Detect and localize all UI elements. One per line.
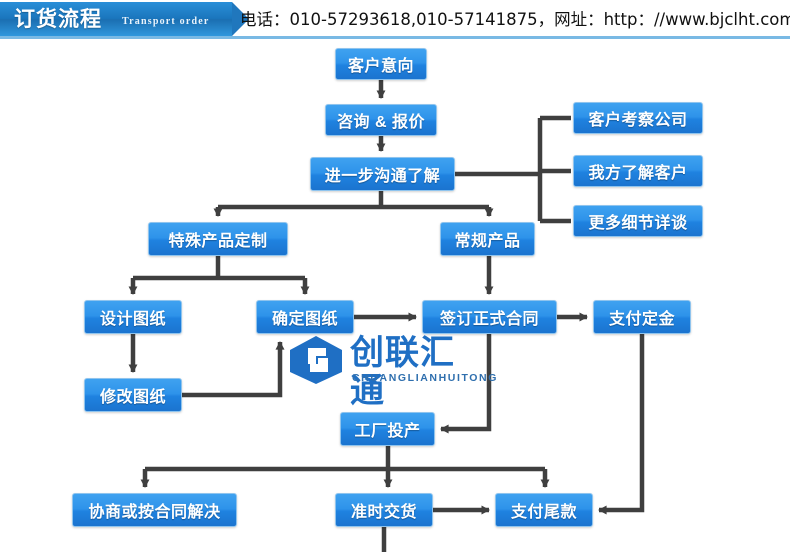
node-sign-contract[interactable]: 签订正式合同	[422, 300, 557, 334]
node-standard-product[interactable]: 常规产品	[440, 222, 535, 256]
node-more-details-discussion[interactable]: 更多细节详谈	[573, 205, 703, 237]
node-consult-quote[interactable]: 咨询 & 报价	[325, 104, 437, 136]
edge-n13-n10	[182, 342, 280, 395]
node-negotiate-or-contract[interactable]: 协商或按合同解决	[72, 493, 237, 527]
node-pay-balance[interactable]: 支付尾款	[495, 493, 593, 527]
edge-n12-n17	[599, 334, 642, 510]
node-customer-visits-company[interactable]: 客户考察公司	[573, 102, 703, 134]
company-logo-icon	[288, 334, 346, 386]
contact-info: 电话：010-57293618,010-57141875，网址：http：//w…	[240, 6, 790, 30]
node-on-time-delivery[interactable]: 准时交货	[335, 493, 433, 527]
node-we-understand-customer[interactable]: 我方了解客户	[573, 155, 703, 187]
header-divider	[0, 36, 790, 39]
page-subtitle: Transport order	[122, 16, 210, 27]
node-factory-production[interactable]: 工厂投产	[340, 412, 435, 446]
node-custom-product[interactable]: 特殊产品定制	[148, 222, 288, 256]
watermark-logo: 创联汇通 CHUANGLIANHUITONG	[288, 334, 488, 392]
watermark-pinyin: CHUANGLIANHUITONG	[352, 372, 498, 384]
node-pay-deposit[interactable]: 支付定金	[593, 300, 691, 334]
node-revise-drawing[interactable]: 修改图纸	[84, 378, 182, 412]
node-further-communication[interactable]: 进一步沟通了解	[310, 157, 455, 191]
node-customer-intent[interactable]: 客户意向	[335, 48, 427, 80]
page-title: 订货流程	[14, 6, 102, 34]
node-confirm-drawing[interactable]: 确定图纸	[256, 300, 354, 334]
header-banner: 订货流程 Transport order	[0, 2, 232, 36]
node-design-drawing[interactable]: 设计图纸	[84, 300, 182, 334]
page-header: 订货流程 Transport order 电话：010-57293618,010…	[0, 0, 790, 42]
flowchart-canvas: 创联汇通 CHUANGLIANHUITONG 客户意向 咨询 & 报价 进一步沟…	[0, 42, 790, 552]
